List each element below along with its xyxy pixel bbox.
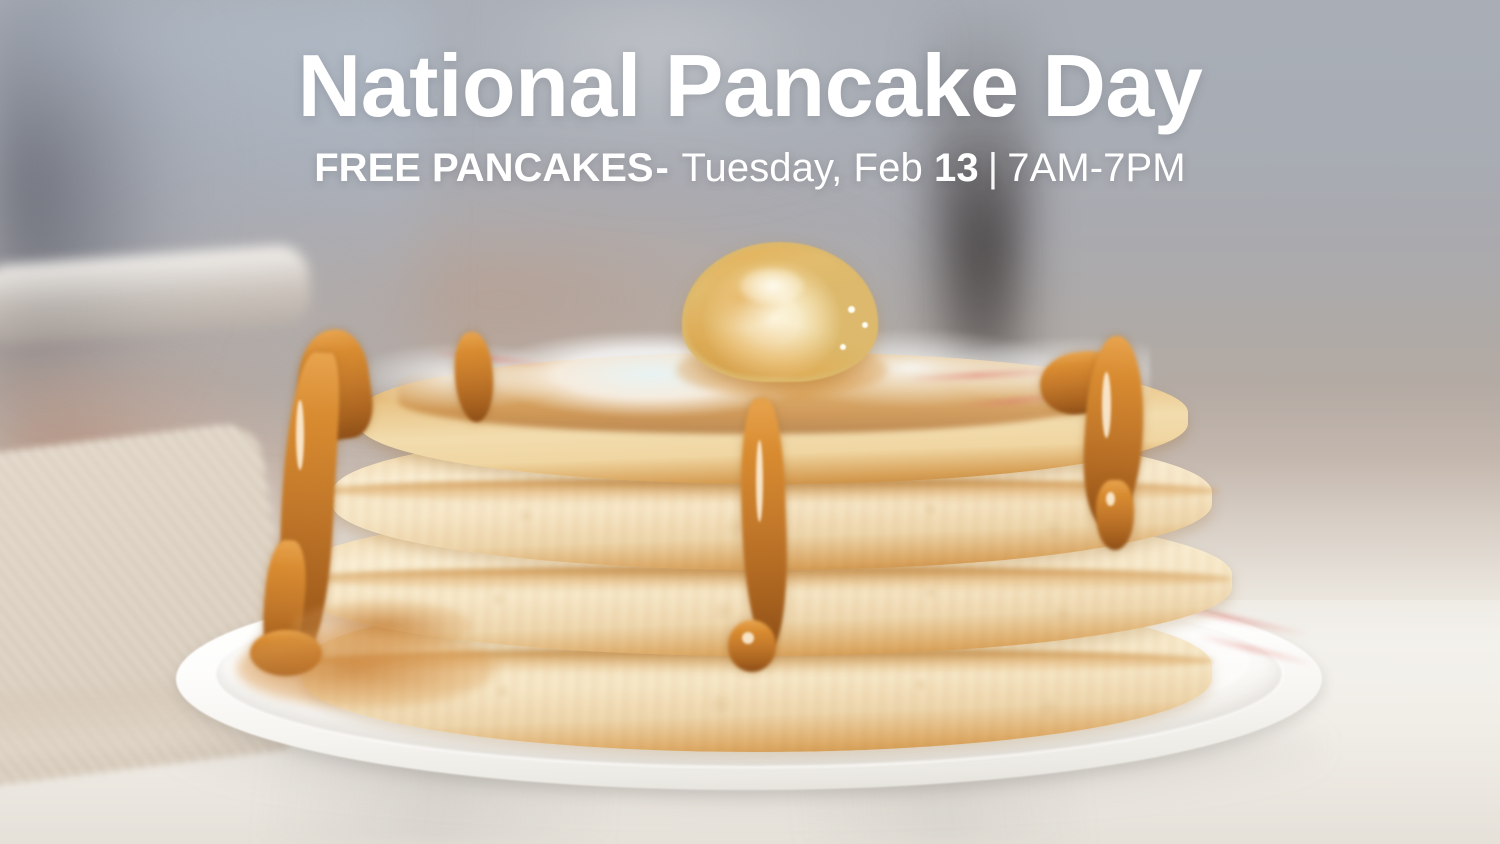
promo-subtitle: FREE PANCAKES- Tuesday, Feb 13|7AM-7PM <box>0 146 1500 190</box>
national-pancake-day-banner: National Pancake Day FREE PANCAKES- Tues… <box>0 0 1500 844</box>
syrup-sparkle <box>840 344 846 350</box>
event-day-number: 13 <box>934 146 979 190</box>
page-title: National Pancake Day <box>0 40 1500 132</box>
subtitle-divider: | <box>979 146 1008 190</box>
syrup-sparkle <box>848 306 855 313</box>
syrup-on-plate <box>236 628 496 708</box>
subtitle-separator: - <box>654 146 671 190</box>
syrup-highlight <box>1102 372 1111 438</box>
syrup-highlight <box>1106 492 1115 506</box>
syrup-highlight <box>756 440 763 522</box>
syrup-highlight <box>742 632 754 644</box>
syrup-highlight <box>296 400 304 470</box>
butter-highlight <box>740 268 804 304</box>
offer-label: FREE PANCAKES <box>314 146 653 190</box>
event-hours: 7AM-7PM <box>1007 146 1186 190</box>
syrup-sparkle <box>862 322 868 328</box>
promo-text-block: National Pancake Day FREE PANCAKES- Tues… <box>0 40 1500 190</box>
syrup-droplet-right <box>1096 480 1134 550</box>
syrup-droplet-middle <box>728 620 776 672</box>
event-date: Tuesday, Feb <box>681 146 922 190</box>
